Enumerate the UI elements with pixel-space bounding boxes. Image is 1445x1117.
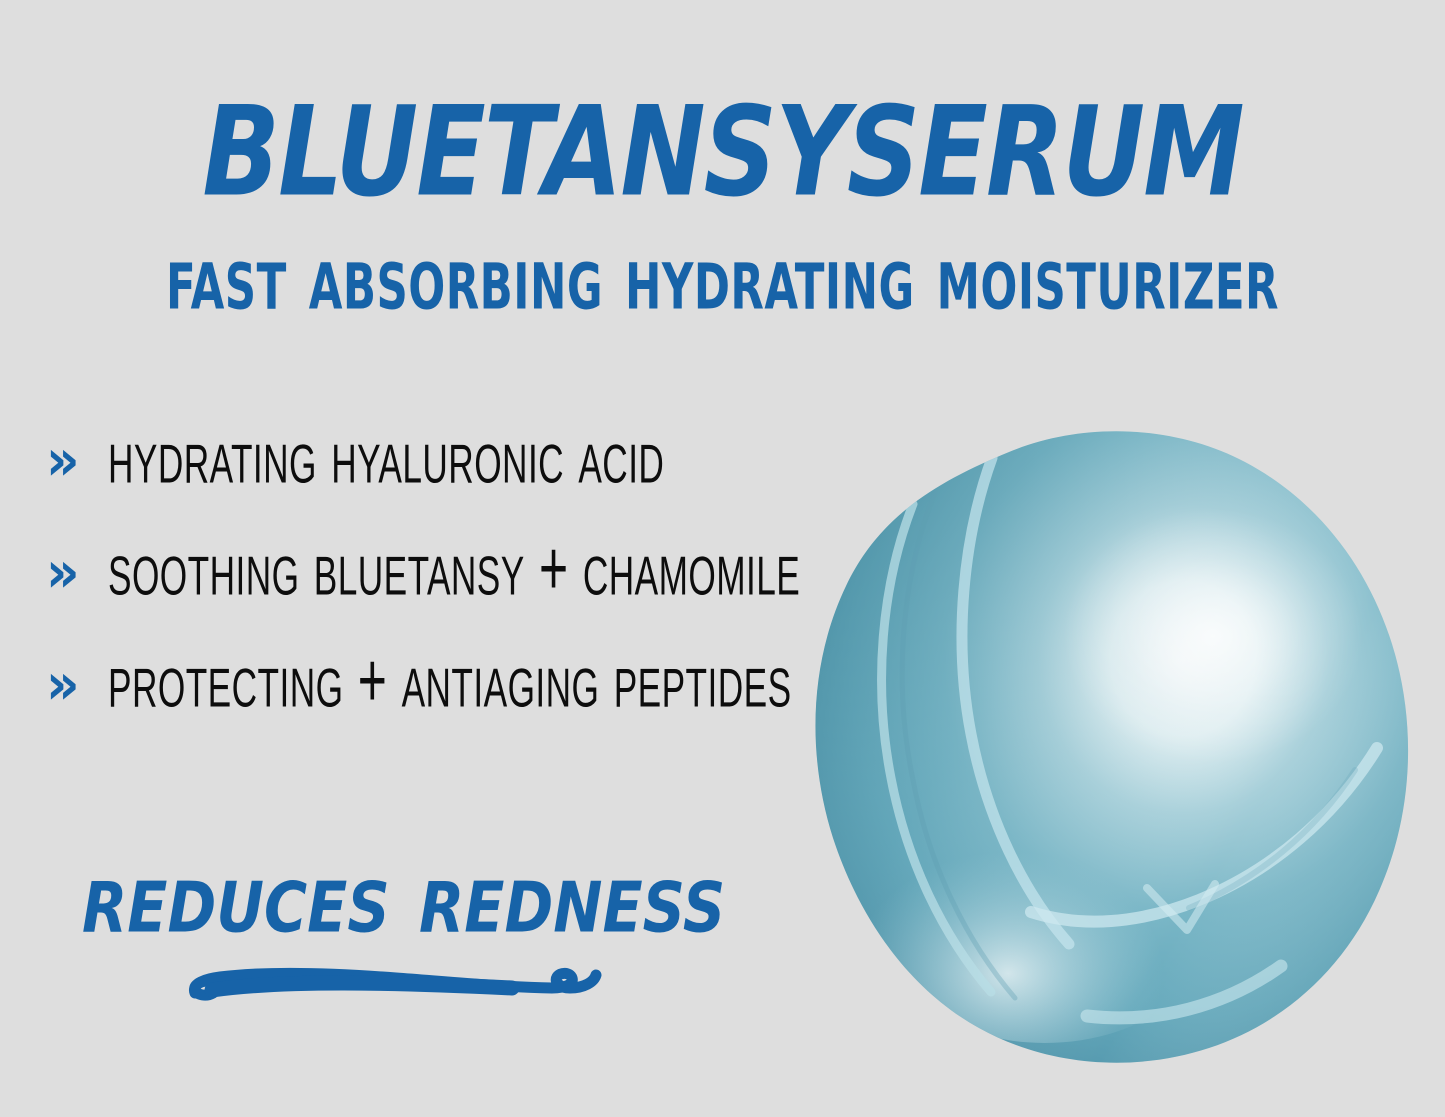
- product-poster: BlueTansySerum Fast absorbing hydrating …: [0, 0, 1445, 1117]
- tagline-text: Reduces Redness: [82, 848, 788, 948]
- double-chevron-icon: »: [46, 432, 108, 489]
- benefit-label: Soothing BlueTansy + Chamomile: [108, 531, 800, 608]
- double-chevron-icon: »: [46, 544, 108, 601]
- brand-title: BlueTansySerum: [22, 46, 1424, 223]
- double-chevron-icon: »: [46, 656, 108, 713]
- benefits-list: » Hydrating Hyaluronic Acid » Soothing B…: [46, 430, 896, 766]
- tagline-block: Reduces Redness: [82, 848, 802, 934]
- benefit-label: Protecting + AntiAging Peptides: [108, 643, 792, 720]
- brush-swash-underline-icon: [182, 966, 612, 1014]
- benefit-label: Hydrating Hyaluronic Acid: [108, 419, 664, 496]
- droplet-highlight: [1063, 508, 1363, 764]
- brand-subtitle: Fast absorbing hydrating moisturizer: [51, 233, 1395, 323]
- benefit-item-antiaging-peptides: » Protecting + AntiAging Peptides: [46, 654, 896, 766]
